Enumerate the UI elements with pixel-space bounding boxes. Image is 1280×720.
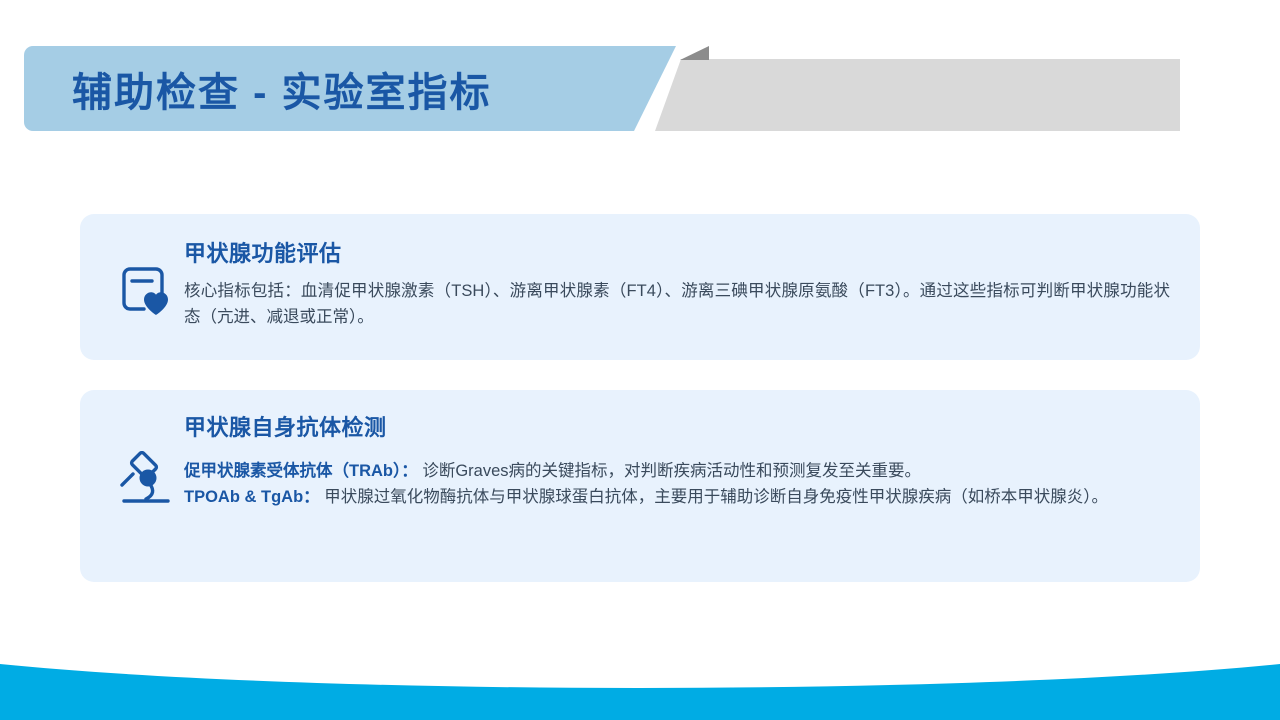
paragraph-lead: TPOAb & TgAb： — [184, 488, 320, 506]
banner-gray-tail — [655, 59, 1180, 131]
card-content: 甲状腺功能评估 核心指标包括：血清促甲状腺激素（TSH）、游离甲状腺素（FT4）… — [184, 236, 1170, 330]
medical-record-heart-icon — [110, 262, 182, 322]
banner-fold-accent-icon — [680, 46, 709, 60]
title-banner: 辅助检查 - 实验室指标 — [0, 28, 1280, 138]
card-title: 甲状腺自身抗体检测 — [184, 410, 1170, 442]
card-paragraph-trab: 促甲状腺素受体抗体（TRAb）： 诊断Graves病的关键指标，对判断疾病活动性… — [184, 458, 1170, 484]
paragraph-text: 甲状腺过氧化物酶抗体与甲状腺球蛋白抗体，主要用于辅助诊断自身免疫性甲状腺疾病（如… — [324, 488, 1108, 506]
page-title: 辅助检查 - 实验室指标 — [72, 60, 492, 118]
paragraph-text: 诊断Graves病的关键指标，对判断疾病活动性和预测复发至关重要。 — [422, 462, 921, 480]
banner-blue-plate: 辅助检查 - 实验室指标 — [24, 46, 714, 131]
card-title: 甲状腺功能评估 — [184, 236, 1170, 268]
card-paragraph: 核心指标包括：血清促甲状腺激素（TSH）、游离甲状腺素（FT4）、游离三碘甲状腺… — [184, 278, 1170, 330]
card-paragraph-tpoab: TPOAb & TgAb： 甲状腺过氧化物酶抗体与甲状腺球蛋白抗体，主要用于辅助… — [184, 484, 1170, 510]
microscope-icon — [110, 448, 182, 512]
info-card-thyroid-function: 甲状腺功能评估 核心指标包括：血清促甲状腺激素（TSH）、游离甲状腺素（FT4）… — [80, 214, 1200, 360]
card-content: 甲状腺自身抗体检测 促甲状腺素受体抗体（TRAb）： 诊断Graves病的关键指… — [184, 410, 1170, 510]
bottom-wave-decoration — [0, 640, 1280, 720]
paragraph-lead: 促甲状腺素受体抗体（TRAb）： — [184, 462, 418, 480]
paragraph-text: 核心指标包括：血清促甲状腺激素（TSH）、游离甲状腺素（FT4）、游离三碘甲状腺… — [184, 282, 1170, 326]
info-card-thyroid-antibody: 甲状腺自身抗体检测 促甲状腺素受体抗体（TRAb）： 诊断Graves病的关键指… — [80, 390, 1200, 582]
